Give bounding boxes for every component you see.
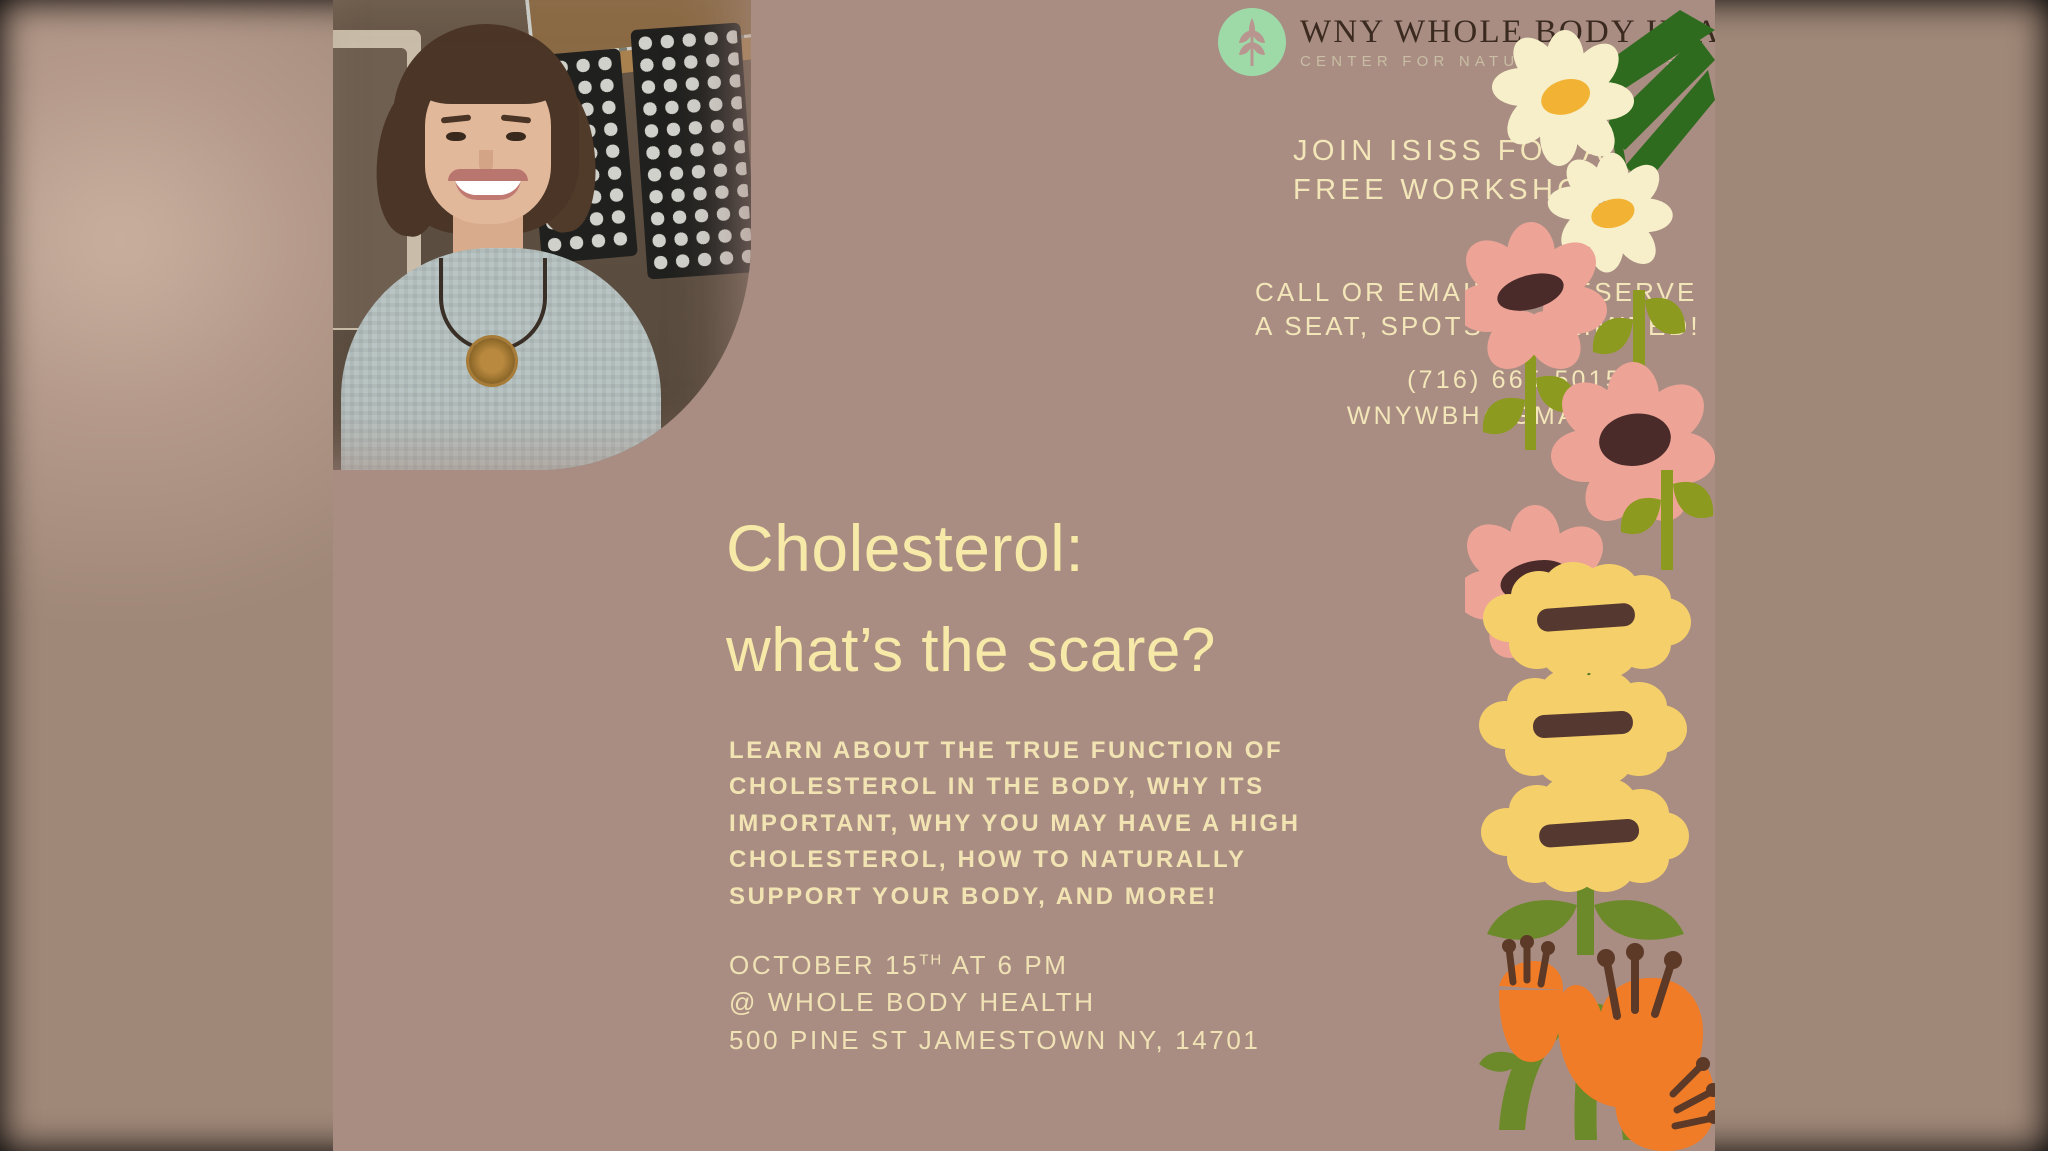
description-line-5: SUPPORT YOUR BODY, AND MORE! — [729, 879, 1369, 915]
description-block: LEARN ABOUT THE TRUE FUNCTION OF CHOLEST… — [729, 733, 1369, 915]
event-address: 500 PINE ST JAMESTOWN NY, 14701 — [729, 1022, 1260, 1059]
presenter-portrait — [333, 0, 751, 470]
date-ordinal-suffix: TH — [919, 951, 943, 968]
workshop-flyer: WNY WHOLE BODY HEALTH CENTER FOR NATURAL… — [333, 0, 1715, 1151]
description-line-4: CHOLESTEROL, HOW TO NATURALLY — [729, 842, 1369, 878]
description-line-1: LEARN ABOUT THE TRUE FUNCTION OF — [729, 733, 1369, 769]
event-details: OCTOBER 15TH AT 6 PM @ WHOLE BODY HEALTH… — [729, 947, 1260, 1059]
event-date: OCTOBER 15 — [729, 950, 919, 980]
yellow-sunflower-stack — [1479, 562, 1691, 955]
tulip-right — [1615, 1043, 1715, 1151]
event-venue: @ WHOLE BODY HEALTH — [729, 984, 1260, 1021]
photo-edge-fade — [333, 0, 751, 470]
wheat-leaf-circle-icon — [1218, 8, 1286, 76]
headline-line-2: what’s the scare? — [726, 615, 1216, 686]
orange-tulip-cluster — [1479, 935, 1715, 1151]
description-line-3: IMPORTANT, WHY YOU MAY HAVE A HIGH — [729, 806, 1369, 842]
event-datetime: OCTOBER 15TH AT 6 PM — [729, 947, 1260, 984]
headline-line-1: Cholesterol: — [726, 510, 1084, 586]
description-line-2: CHOLESTEROL IN THE BODY, WHY ITS — [729, 769, 1369, 805]
tulip-left — [1499, 935, 1563, 1062]
event-time: AT 6 PM — [943, 950, 1068, 980]
floral-illustration-column — [1465, 0, 1715, 1151]
